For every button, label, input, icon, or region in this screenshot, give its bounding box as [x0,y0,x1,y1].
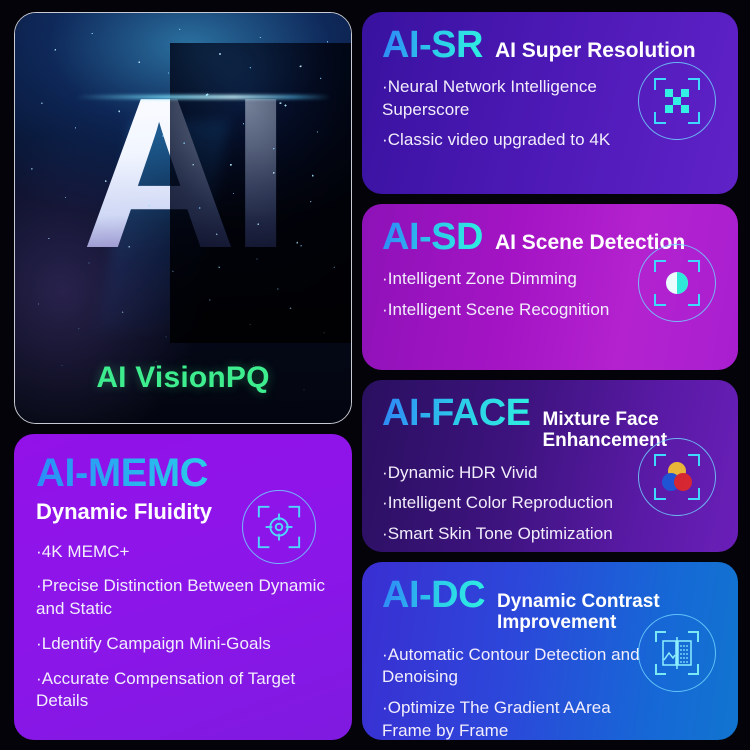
bullet-item: ·Automatic Contour Detection and Denoisi… [382,644,650,690]
card-code-ai-sr: AI-SR [382,26,483,66]
feature-card-ai-sd[interactable]: AI-SD AI Scene Detection ·Intelligent Zo… [362,204,738,370]
card-subtitle-ai-sr: AI Super Resolution [495,39,696,63]
card-code-ai-face: AI-FACE [382,394,531,434]
hero-particle-burst [149,46,344,317]
rgb-venn-focus-icon [638,438,716,516]
card-code-ai-sd: AI-SD [382,218,483,258]
card-code-ai-dc: AI-DC [382,576,485,616]
bullet-item: ·Precise Distinction Between Dynamic and… [36,575,332,621]
bullet-item: ·Intelligent Scene Recognition [382,299,650,322]
card-bullets-ai-memc: ·4K MEMC+ ·Precise Distinction Between D… [36,541,332,714]
bullet-item: ·Intelligent Zone Dimming [382,268,650,291]
hero-light-beam-horizontal [75,95,330,99]
feature-card-ai-memc[interactable]: AI-MEMC Dynamic Fluidity ·4K MEMC+ ·Prec… [14,434,352,740]
card-bullets-ai-dc: ·Automatic Contour Detection and Denoisi… [382,644,650,740]
pixel-grid-focus-icon [638,62,716,140]
contrast-circle-focus-icon [638,244,716,322]
feature-card-ai-dc[interactable]: AI-DC Dynamic Contrast Improvement ·Auto… [362,562,738,740]
bullet-item: ·Classic video upgraded to 4K [382,129,650,152]
image-compare-focus-icon [638,614,716,692]
bullet-item: ·Ldentify Campaign Mini-Goals [36,633,332,656]
feature-card-ai-face[interactable]: AI-FACE Mixture Face Enhancement ·Dynami… [362,380,738,552]
bullet-item: ·Neural Network Intelligence Superscore [382,76,650,122]
card-bullets-ai-sr: ·Neural Network Intelligence Superscore … [382,76,650,152]
card-bullets-ai-sd: ·Intelligent Zone Dimming ·Intelligent S… [382,268,650,322]
bullet-item: ·Accurate Compensation of Target Details [36,668,332,714]
bullet-item: ·Intelligent Color Reproduction [382,492,650,515]
bullet-item: ·Smart Skin Tone Optimization [382,523,650,546]
hero-panel: AI AI VisionPQ [14,12,352,424]
bullet-item: ·Dynamic HDR Vivid [382,462,650,485]
card-header-ai-sr: AI-SR AI Super Resolution [382,26,718,66]
feature-card-ai-sr[interactable]: AI-SR AI Super Resolution ·Neural Networ… [362,12,738,194]
card-bullets-ai-face: ·Dynamic HDR Vivid ·Intelligent Color Re… [382,462,650,546]
ai-visionpq-feature-board: AI AI VisionPQ AI-SR AI Super Resolution… [0,0,750,750]
bullet-item: ·Optimize The Gradient AArea Frame by Fr… [382,697,650,740]
card-code-ai-memc: AI-MEMC [36,452,332,494]
hero-caption: AI VisionPQ [15,361,351,395]
crosshair-target-focus-icon [242,490,316,564]
